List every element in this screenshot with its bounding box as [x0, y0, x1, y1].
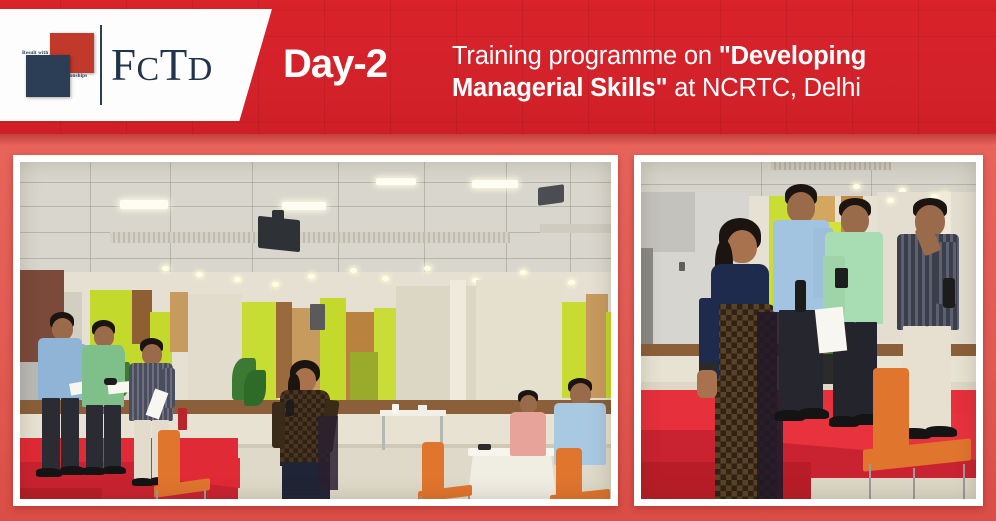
logo-letter-d: D [188, 51, 213, 88]
logo-divider [100, 25, 102, 105]
logo-letter-f: F [111, 40, 137, 90]
logo-letter-c: C [137, 51, 160, 88]
person-figure-speaker [268, 360, 350, 499]
day-label: Day-2 [283, 44, 387, 84]
title-plain-1: Training programme on [452, 42, 719, 70]
fctd-logo-mark: Result with Relationships [18, 29, 96, 101]
title-plain-2: at NCRTC, Delhi [667, 74, 860, 102]
chair [859, 368, 976, 499]
header-title: Training programme on "Developing Manage… [452, 40, 986, 104]
photo-left-image [20, 162, 611, 499]
photo-right-image [641, 162, 976, 499]
header-shadow [0, 134, 996, 146]
chair [546, 448, 611, 499]
banner-root: Result with Relationships FCTD Day-2 Tra… [0, 0, 996, 521]
logo-tagline-top: Result with [22, 50, 48, 56]
logo-letter-t: T [160, 40, 188, 90]
logo-wordmark: FCTD [111, 43, 213, 88]
photo-right-frame[interactable] [634, 155, 983, 506]
photo-left-frame[interactable] [13, 155, 618, 506]
logo-plate[interactable]: Result with Relationships FCTD [0, 9, 272, 121]
title-bold-2: Managerial Skills" [452, 74, 667, 102]
chair [414, 442, 480, 499]
chair [148, 430, 214, 499]
title-bold-1: "Developing [719, 42, 866, 70]
logo-tagline-bottom: Relationships [56, 73, 87, 79]
person-figure [508, 390, 550, 460]
